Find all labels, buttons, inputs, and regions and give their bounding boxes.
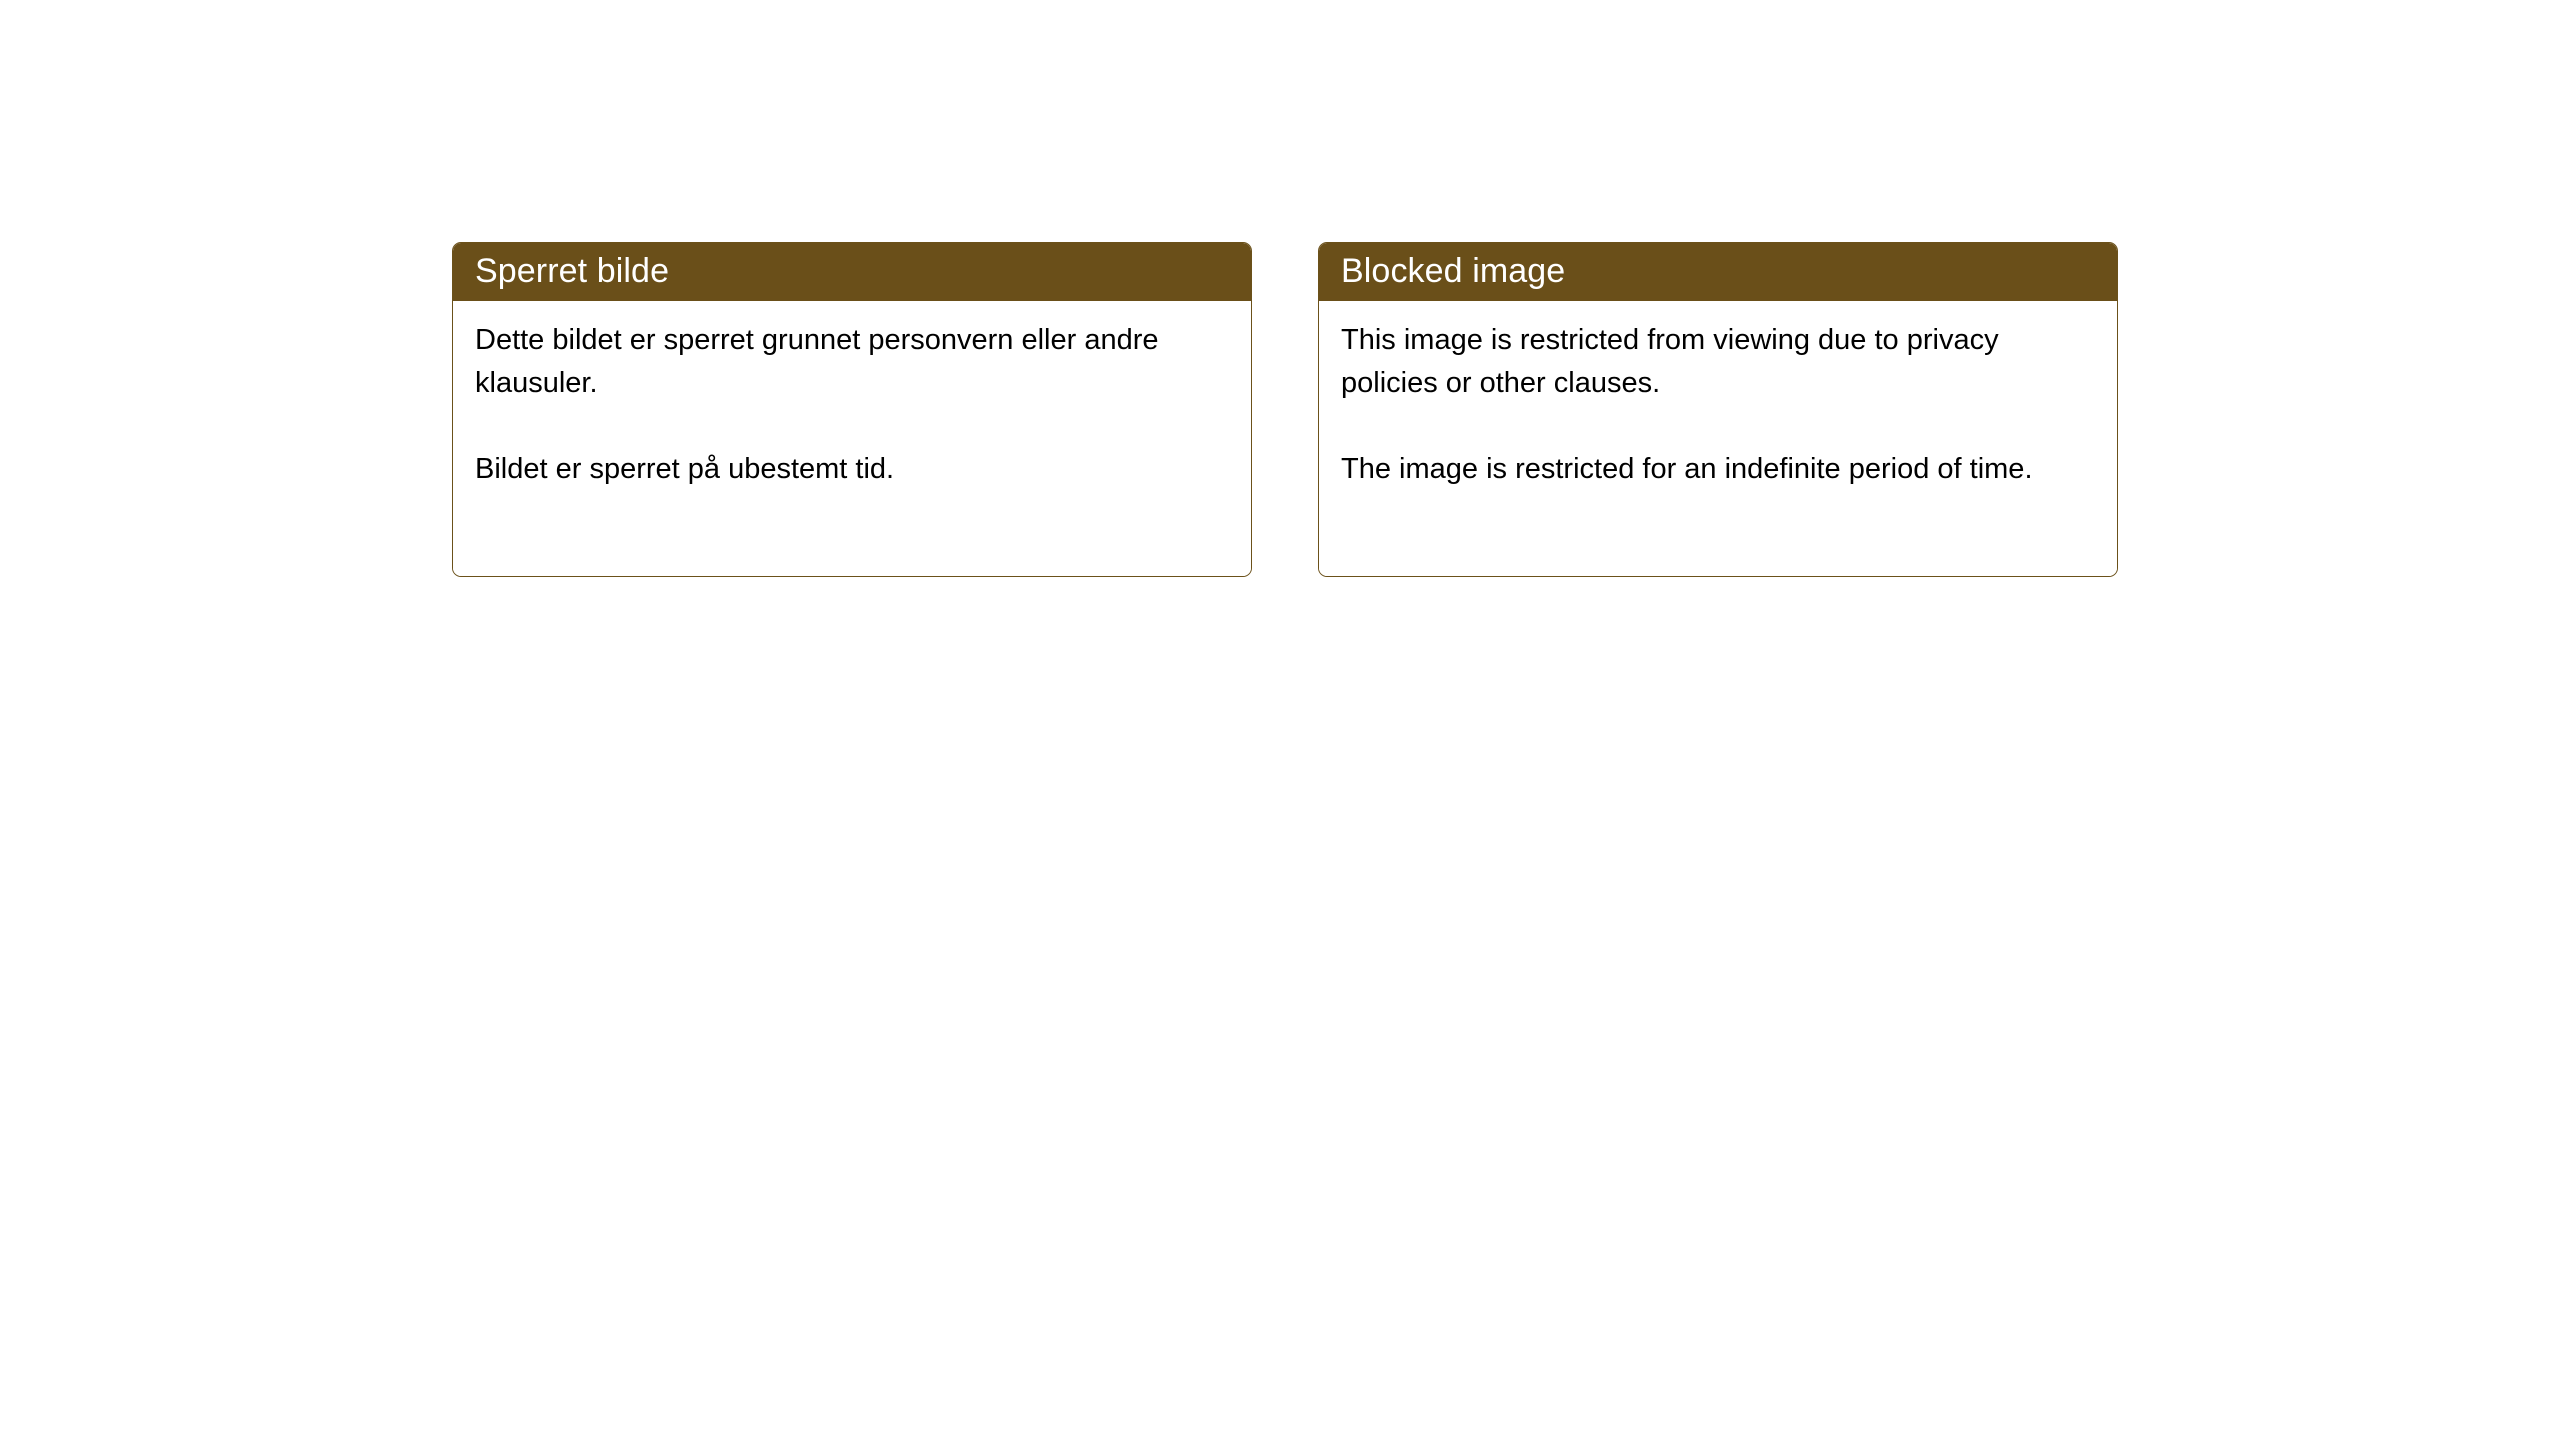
card-paragraph-reason-norwegian: Dette bildet er sperret grunnet personve… xyxy=(475,319,1195,405)
card-header-norwegian: Sperret bilde xyxy=(453,243,1251,301)
card-body-english: This image is restricted from viewing du… xyxy=(1319,301,2117,576)
card-paragraph-duration-english: The image is restricted for an indefinit… xyxy=(1341,448,2061,491)
blocked-image-card-norwegian: Sperret bilde Dette bildet er sperret gr… xyxy=(452,242,1252,577)
blocked-image-card-english: Blocked image This image is restricted f… xyxy=(1318,242,2118,577)
card-body-norwegian: Dette bildet er sperret grunnet personve… xyxy=(453,301,1251,576)
card-paragraph-duration-norwegian: Bildet er sperret på ubestemt tid. xyxy=(475,448,1195,491)
card-title-english: Blocked image xyxy=(1341,250,1565,292)
page-root: Sperret bilde Dette bildet er sperret gr… xyxy=(0,0,2560,1440)
card-paragraph-reason-english: This image is restricted from viewing du… xyxy=(1341,319,2061,405)
card-title-norwegian: Sperret bilde xyxy=(475,250,669,292)
card-header-english: Blocked image xyxy=(1319,243,2117,301)
blocked-image-notice-group: Sperret bilde Dette bildet er sperret gr… xyxy=(452,242,2118,577)
